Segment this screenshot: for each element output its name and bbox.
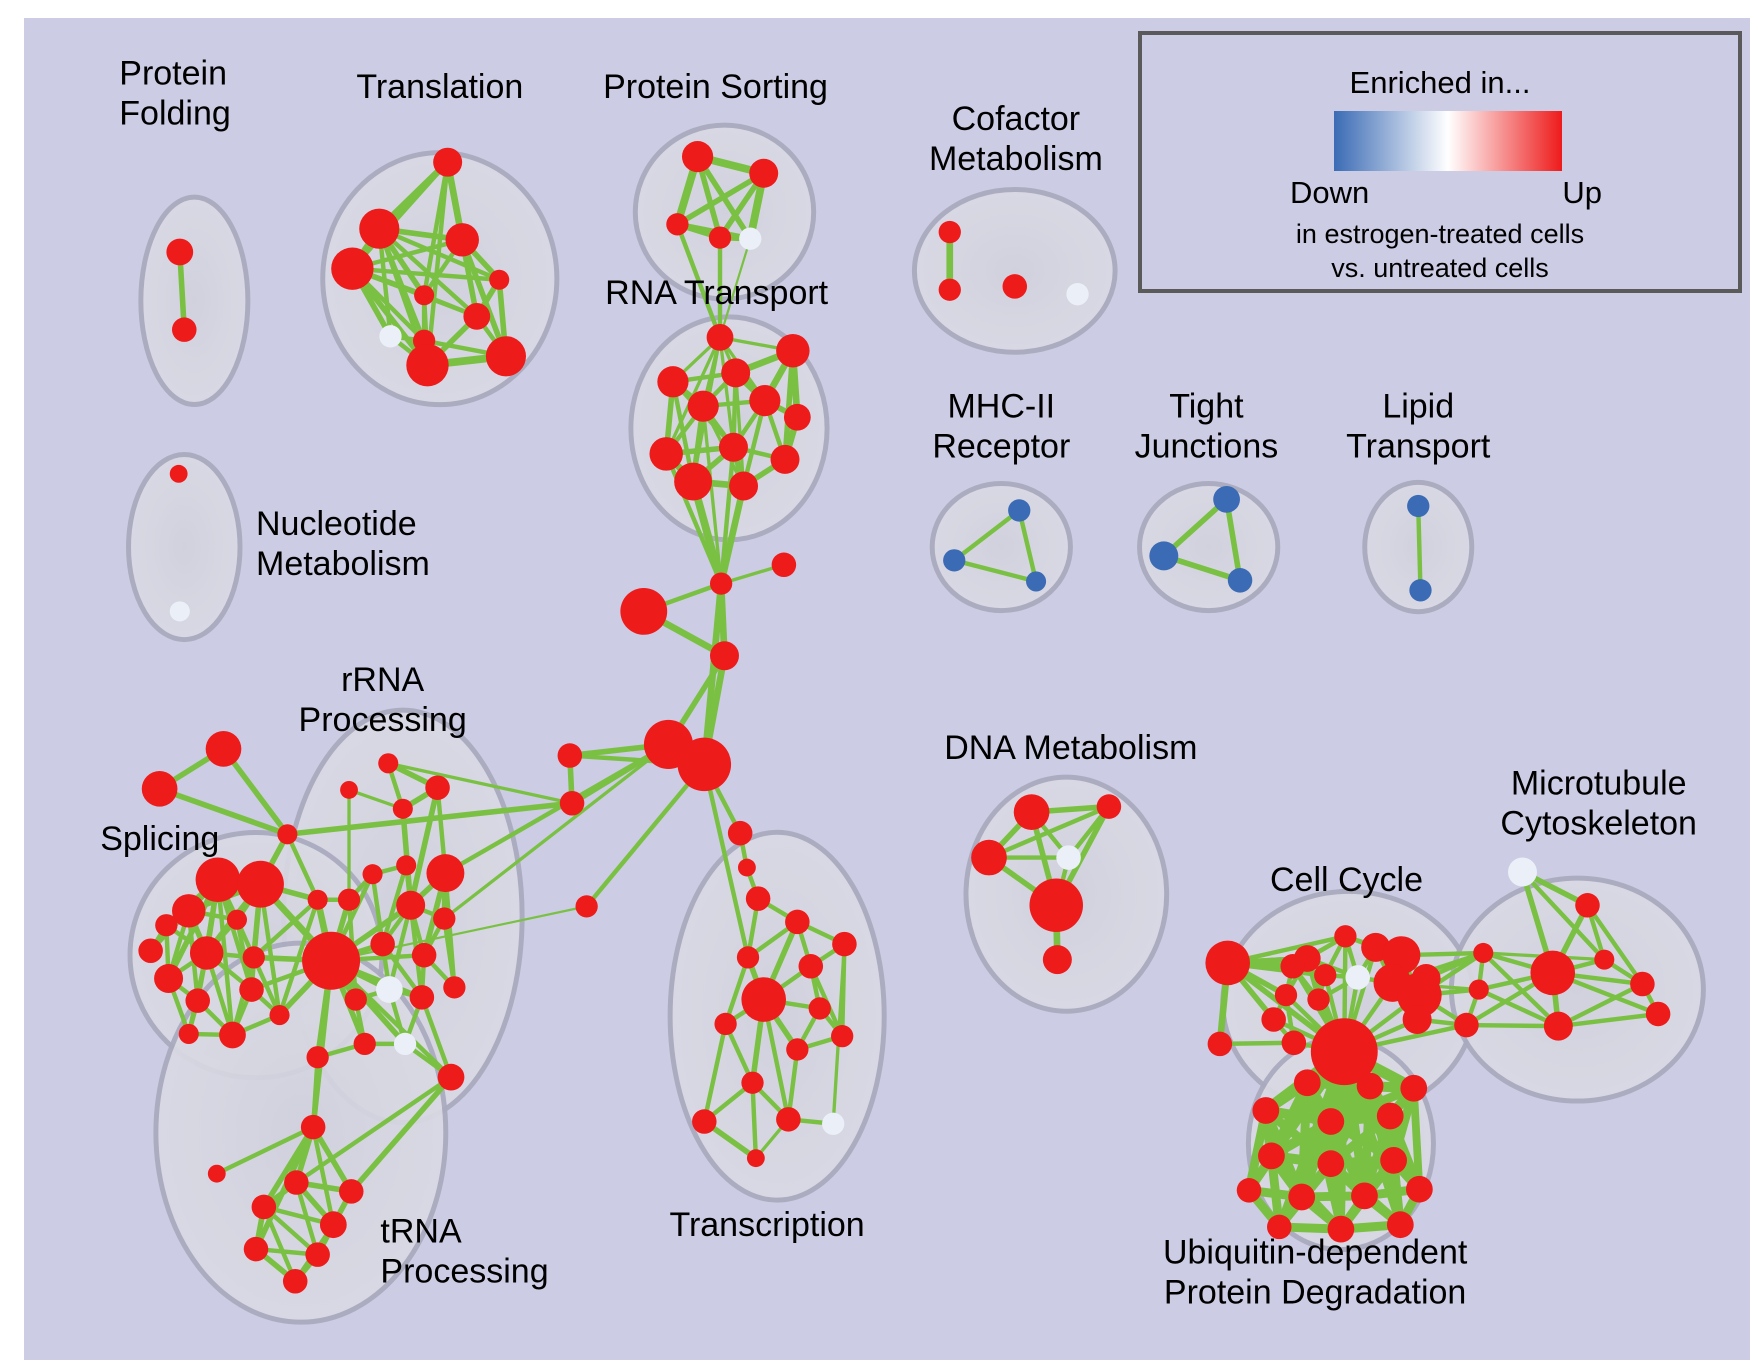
cluster-label-line: Metabolism [256,545,430,583]
network-node[interactable] [1594,950,1614,970]
network-node[interactable] [370,932,395,957]
network-node[interactable] [688,391,719,422]
network-node[interactable] [443,976,465,998]
network-node[interactable] [1403,1005,1432,1034]
network-node[interactable] [709,226,731,248]
network-node[interactable] [657,366,688,397]
network-node[interactable] [620,588,667,635]
cluster-label-line: MHC-II [947,387,1055,425]
network-node[interactable] [1288,1184,1315,1211]
network-node[interactable] [301,1115,326,1140]
network-node[interactable] [393,799,413,819]
network-node[interactable] [302,932,360,990]
network-node[interactable] [284,1170,309,1195]
network-node[interactable] [339,1179,364,1204]
network-node[interactable] [1228,568,1253,593]
cluster-label-splicing: Splicing [100,820,219,858]
network-node[interactable] [406,344,448,386]
network-node[interactable] [283,1269,308,1294]
cluster-label-line: Protein Sorting [603,68,828,106]
network-node[interactable] [1575,893,1600,918]
network-node[interactable] [486,336,526,376]
network-node[interactable] [277,824,297,844]
cluster-label-line: Processing [299,701,467,739]
network-node[interactable] [1630,972,1655,997]
network-node[interactable] [425,775,450,800]
cluster-hull-mhc-ii-receptor[interactable] [932,483,1070,610]
network-node[interactable] [340,781,358,799]
network-node[interactable] [244,1237,269,1262]
cluster-label-line: Cell Cycle [1270,861,1423,899]
network-node[interactable] [799,954,824,979]
network-node[interactable] [831,1025,853,1047]
network-node[interactable] [433,148,462,177]
network-node[interactable] [1056,845,1081,870]
network-node[interactable] [1351,1182,1378,1209]
network-node[interactable] [1530,951,1575,996]
network-node[interactable] [396,891,425,920]
network-node[interactable] [396,855,416,875]
network-node[interactable] [239,977,264,1002]
cluster-label-line: Translation [356,68,523,106]
network-node[interactable] [749,385,780,416]
cluster-label-line: DNA Metabolism [944,729,1197,767]
network-node[interactable] [692,1109,717,1134]
network-node[interactable] [1345,965,1370,990]
network-node[interactable] [338,889,360,911]
network-node[interactable] [1066,283,1088,305]
network-node[interactable] [682,141,713,172]
cluster-label-dna-metabolism: DNA Metabolism [944,729,1197,767]
network-node[interactable] [939,279,961,301]
network-node[interactable] [1261,1007,1286,1032]
cluster-label-line: Nucleotide [256,505,417,543]
network-node[interactable] [1149,541,1178,570]
network-node[interactable] [206,731,242,767]
network-node[interactable] [776,1107,801,1132]
network-node[interactable] [721,358,750,387]
network-node[interactable] [1237,1178,1262,1203]
network-node[interactable] [739,228,761,250]
cluster-label-line: Metabolism [929,140,1103,178]
network-node[interactable] [243,946,265,968]
network-node[interactable] [1544,1012,1573,1041]
network-node[interactable] [785,910,810,935]
network-node[interactable] [741,1072,763,1094]
cluster-label-line: Protein [119,55,227,93]
legend: Enriched in... Down Up in estrogen-treat… [1140,33,1740,291]
network-node[interactable] [426,854,464,892]
network-node[interactable] [1409,579,1431,601]
network-node[interactable] [710,572,732,594]
legend-title: Enriched in... [1350,65,1531,100]
cluster-hull-protein-sorting[interactable] [635,125,813,299]
cluster-label-line: Transcription [669,1206,864,1244]
network-node[interactable] [306,1046,328,1068]
network-node[interactable] [252,1195,277,1220]
network-node[interactable] [1043,945,1072,974]
network-node[interactable] [771,445,800,474]
network-node[interactable] [707,324,734,351]
network-node[interactable] [219,1022,246,1049]
network-node[interactable] [438,1064,465,1091]
network-node[interactable] [772,553,797,578]
network-node[interactable] [776,334,809,367]
network-node[interactable] [196,857,241,902]
network-node[interactable] [154,964,183,993]
network-node[interactable] [155,914,177,936]
network-node[interactable] [1097,794,1122,819]
network-node[interactable] [1406,1176,1433,1203]
network-node[interactable] [354,1033,376,1055]
network-node[interactable] [412,943,437,968]
network-node[interactable] [1208,1032,1233,1057]
legend-down-label: Down [1290,175,1369,210]
cluster-label-line: Lipid [1382,387,1454,425]
network-node[interactable] [1357,1073,1384,1100]
cluster-hull-cofactor-metabolism[interactable] [914,189,1115,352]
network-node[interactable] [1252,1097,1279,1124]
network-node[interactable] [939,221,961,243]
network-node[interactable] [649,437,682,470]
cluster-label-line: Junctions [1135,427,1279,465]
network-node[interactable] [1003,274,1028,299]
network-node[interactable] [1213,486,1240,513]
cluster-label-translation: Translation [356,68,523,106]
network-node[interactable] [1258,1143,1285,1170]
network-node[interactable] [227,910,247,930]
network-node[interactable] [1275,984,1297,1006]
network-node[interactable] [674,463,712,501]
network-node[interactable] [331,247,373,289]
network-node[interactable] [414,285,434,305]
network-node[interactable] [208,1165,226,1183]
network-node[interactable] [1205,941,1250,986]
cluster-label-line: Splicing [100,820,219,858]
network-edge [1418,506,1420,590]
network-node[interactable] [1307,988,1329,1010]
network-node[interactable] [729,472,758,501]
network-node[interactable] [971,840,1007,876]
figure-canvas: ProteinFoldingTranslationProtein Sorting… [0,0,1750,1360]
network-node[interactable] [394,1033,416,1055]
network-node[interactable] [376,976,403,1003]
cluster-label-line: Receptor [932,427,1070,465]
cluster-label-line: Microtubule [1511,764,1687,802]
network-node[interactable] [1377,1103,1404,1130]
network-node[interactable] [1407,495,1429,517]
network-node[interactable] [190,936,223,969]
network-node[interactable] [822,1113,844,1135]
network-node[interactable] [1473,943,1493,963]
network-node[interactable] [1646,1002,1671,1027]
network-node[interactable] [809,997,831,1019]
network-node[interactable] [308,890,328,910]
network-node[interactable] [784,404,811,431]
network-node[interactable] [1469,980,1489,1000]
network-node[interactable] [446,223,479,256]
network-node[interactable] [489,270,509,290]
network-node[interactable] [1294,1069,1321,1096]
network-node[interactable] [738,859,756,877]
network-node[interactable] [359,209,399,249]
network-node[interactable] [749,159,778,188]
cluster-label-line: Ubiquitin-dependent [1163,1234,1468,1272]
network-node[interactable] [1334,925,1356,947]
network-node[interactable] [1400,1075,1427,1102]
network-node[interactable] [714,1013,736,1035]
cluster-label-line: Folding [119,95,231,133]
legend-subtitle-line1: in estrogen-treated cells [1296,219,1584,249]
network-node[interactable] [1380,1147,1407,1174]
network-node[interactable] [378,753,398,773]
network-node[interactable] [1014,794,1050,830]
network-node[interactable] [1314,964,1336,986]
network-node[interactable] [166,239,193,266]
network-node[interactable] [463,303,490,330]
cluster-label-line: Transport [1346,427,1491,465]
cluster-label-line: RNA Transport [605,274,829,312]
network-node[interactable] [138,938,163,963]
cluster-label-protein-sorting: Protein Sorting [603,68,828,106]
network-node[interactable] [142,771,178,807]
network-node[interactable] [666,213,688,235]
cluster-hull-protein-folding[interactable] [141,197,248,404]
network-node[interactable] [1026,571,1046,591]
network-node[interactable] [305,1242,330,1267]
network-node[interactable] [728,821,753,846]
network-node[interactable] [678,738,732,792]
network-node[interactable] [172,317,197,342]
network-node[interactable] [741,977,786,1022]
network-node[interactable] [1317,1150,1344,1177]
network-node[interactable] [1508,858,1537,887]
network-node[interactable] [1454,1013,1479,1038]
network-node[interactable] [170,601,190,621]
cluster-label-transcription: Transcription [669,1206,864,1244]
network-node[interactable] [1280,954,1305,979]
network-node[interactable] [1317,1108,1344,1135]
network-node[interactable] [943,549,965,571]
network-node[interactable] [747,1149,765,1167]
network-node[interactable] [379,325,401,347]
network-node[interactable] [185,988,210,1013]
network-node[interactable] [237,861,284,908]
network-node[interactable] [558,743,583,768]
enrichment-map-network: ProteinFoldingTranslationProtein Sorting… [0,0,1750,1360]
legend-colorbar [1334,111,1562,171]
cluster-label-line: Cytoskeleton [1500,804,1697,842]
network-node[interactable] [575,895,597,917]
network-node[interactable] [560,791,585,816]
cluster-label-line: Cofactor [952,100,1081,138]
network-node[interactable] [710,641,739,670]
cluster-label-line: tRNA [380,1212,462,1250]
cluster-label-line: Protein Degradation [1164,1274,1466,1312]
legend-subtitle-line2: vs. untreated cells [1331,253,1549,283]
network-node[interactable] [1282,1031,1307,1056]
network-node[interactable] [719,433,748,462]
cluster-label-rna-transport: RNA Transport [605,274,829,312]
network-node[interactable] [832,932,857,957]
network-node[interactable] [363,864,383,884]
network-node[interactable] [270,1005,290,1025]
network-node[interactable] [433,907,455,929]
network-node[interactable] [320,1211,347,1238]
network-node[interactable] [1029,879,1083,933]
cluster-label-line: Processing [380,1252,548,1290]
network-node[interactable] [410,985,435,1010]
legend-up-label: Up [1562,175,1602,210]
network-node[interactable] [345,988,367,1010]
network-node[interactable] [179,1024,199,1044]
network-node[interactable] [170,465,188,483]
network-node[interactable] [746,886,771,911]
network-node[interactable] [786,1038,808,1060]
cluster-label-line: Tight [1169,387,1244,425]
cluster-label-line: rRNA [341,661,424,699]
network-node[interactable] [737,946,759,968]
cluster-label-cell-cycle: Cell Cycle [1270,861,1423,899]
network-node[interactable] [1008,499,1030,521]
